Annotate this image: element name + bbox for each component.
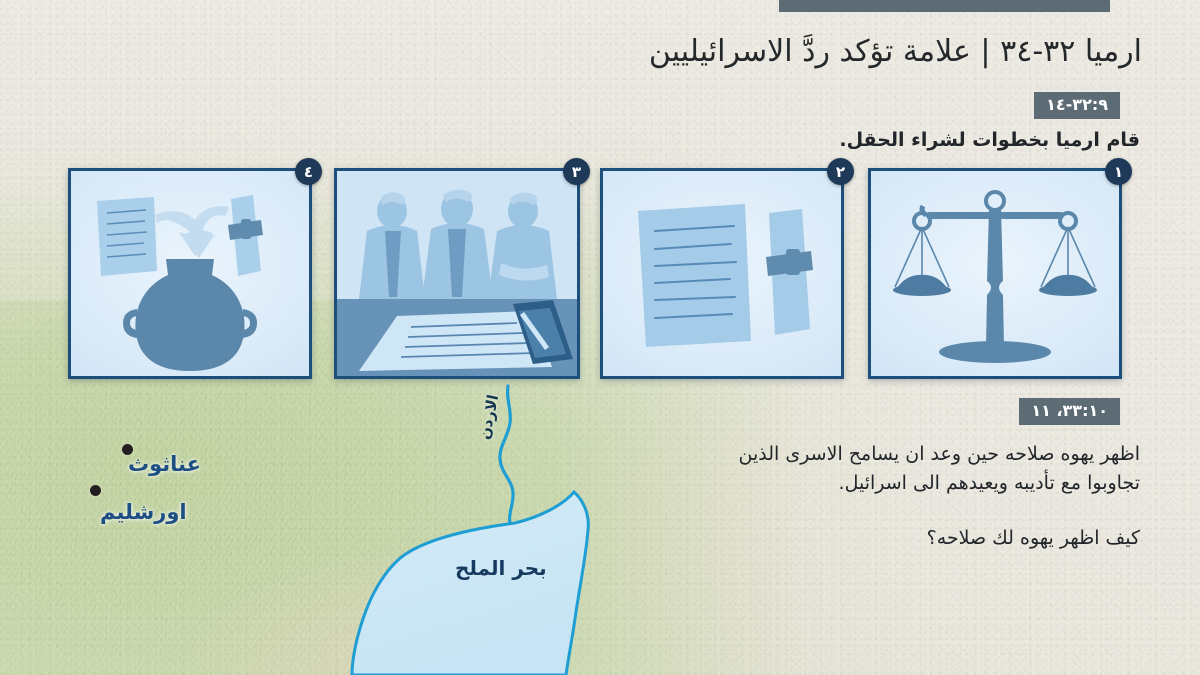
illustration-panel-3[interactable]: ٣ <box>334 168 580 379</box>
illustration-panel-2[interactable]: ٢ <box>600 168 844 379</box>
illustration-panel-4[interactable]: ٤ <box>68 168 312 379</box>
panel-badge-1: ١ <box>1105 158 1132 185</box>
open-deed <box>638 204 751 347</box>
section-caption-first: قام ارميا بخطوات لشراء الحقل. <box>600 126 1140 155</box>
city-dot-jerusalem <box>90 485 101 496</box>
panel-4-image <box>71 171 309 376</box>
page-title: ارميا ٣٢-٣٤ | علامة تؤكد ردَّ الاسرائيلي… <box>582 34 1142 69</box>
panel-1-image <box>871 171 1119 376</box>
map-label-salt-sea: بحر الملح <box>455 556 547 580</box>
balance-scale-icon <box>871 171 1119 376</box>
verse-badge-first: ٣٢:٩-١٤ <box>1034 92 1120 119</box>
salt-sea-shape <box>352 492 588 675</box>
storage-jar-icon <box>71 171 309 376</box>
jar-body <box>123 259 257 371</box>
panel-2-image <box>603 171 841 376</box>
illustration-panel-1[interactable]: ١ <box>868 168 1122 379</box>
deed-paper-small <box>97 197 157 276</box>
panel-3-image <box>337 171 577 376</box>
map-label-jerusalem: اورشليم <box>100 500 187 524</box>
map-label-anathoth: عناثوث <box>128 452 201 476</box>
jordan-river-shape <box>500 386 513 523</box>
deed-and-scroll-icon <box>603 171 841 376</box>
panel-badge-3: ٣ <box>563 158 590 185</box>
slide-canvas: عناثوث اورشليم بحر الملح الاردن ارميا ٣٢… <box>0 0 1200 675</box>
witness-figures <box>359 189 557 299</box>
top-accent-bar <box>779 0 1110 12</box>
witnesses-signing-icon <box>337 171 577 376</box>
section-paragraph-second: اظهر يهوه صلاحه حين وعد ان يسامح الاسرى … <box>720 440 1140 499</box>
panel-badge-4: ٤ <box>295 158 322 185</box>
sealed-scroll <box>766 209 813 335</box>
verse-badge-second: ٣٣:١٠، ١١ <box>1019 398 1120 425</box>
scroll-small <box>228 195 263 276</box>
section-question-second: كيف اظهر يهوه لك صلاحه؟ <box>720 524 1140 553</box>
panel-badge-2: ٢ <box>827 158 854 185</box>
